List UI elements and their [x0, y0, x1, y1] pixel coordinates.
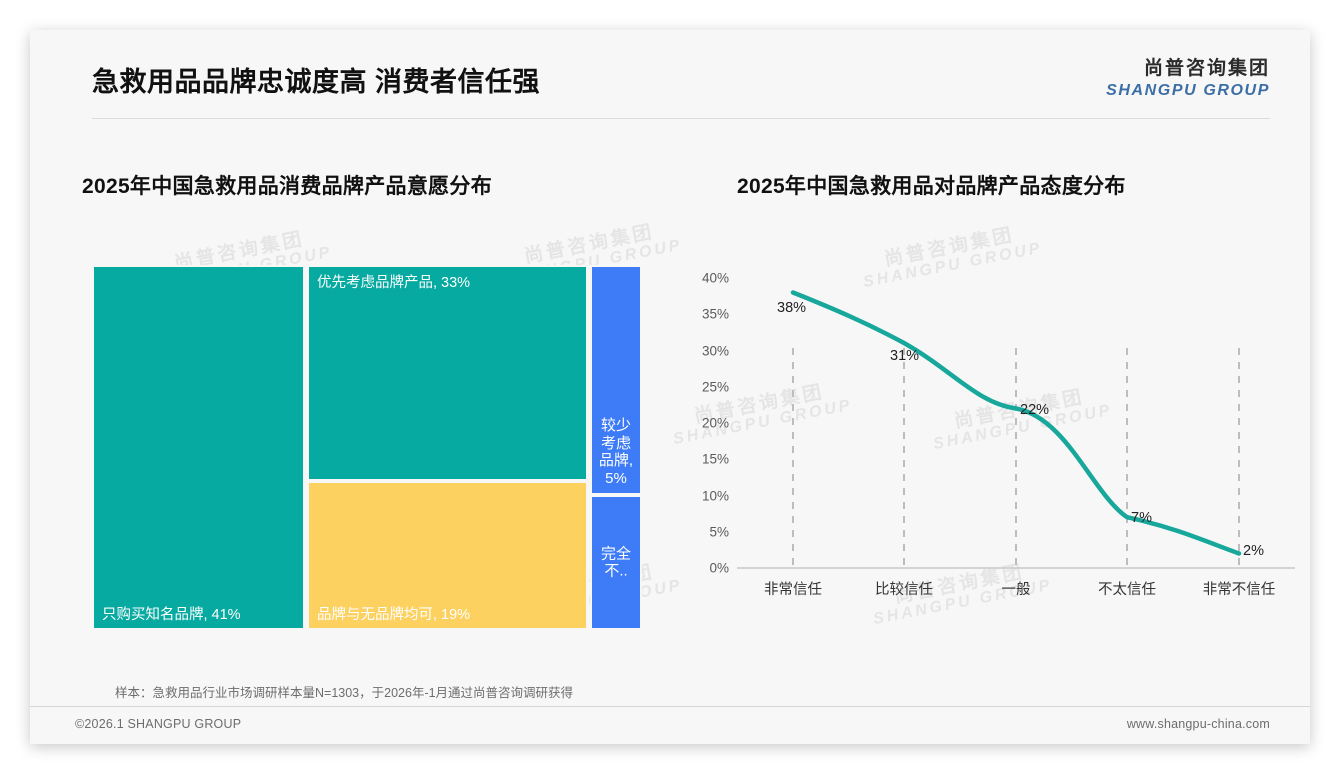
treemap-cell-prefer-brand[interactable]: 优先考虑品牌产品, 33% — [307, 265, 588, 481]
x-axis: 非常信任 比较信任 一般 不太信任 非常不信任 — [737, 578, 1295, 608]
x-tick-label: 非常信任 — [764, 578, 822, 599]
watermark-cn: 尚普咨询集团 — [858, 221, 1041, 275]
treemap-cell-seldom-consider-brand[interactable]: 较少考虑品牌, 5% — [590, 265, 642, 495]
treemap-cell-label: 完全不.. — [592, 545, 640, 580]
brand-logo: 尚普咨询集团 SHANGPU GROUP — [1106, 58, 1270, 100]
line-chart-svg — [737, 278, 1295, 578]
treemap-cell-buy-known-brand[interactable]: 只购买知名品牌, 41% — [92, 265, 305, 630]
data-label: 22% — [1020, 402, 1049, 418]
website-link[interactable]: www.shangpu-china.com — [1127, 717, 1270, 731]
right-chart-title: 2025年中国急救用品对品牌产品态度分布 — [737, 170, 1126, 200]
treemap-cell-label: 较少考虑品牌, 5% — [592, 417, 640, 487]
y-tick: 15% — [683, 452, 729, 467]
data-label: 31% — [890, 348, 919, 364]
sample-footnote: 样本：急救用品行业市场调研样本量N=1303，于2026年-1月通过尚普咨询调研… — [115, 682, 573, 701]
slide-header: 急救用品品牌忠诚度高 消费者信任强 尚普咨询集团 SHANGPU GROUP — [30, 30, 1310, 122]
brand-willingness-treemap: 只购买知名品牌, 41% 优先考虑品牌产品, 33% 品牌与无品牌均可, 19%… — [92, 265, 642, 630]
y-axis: 0% 5% 10% 15% 20% 25% 30% 35% 40% — [675, 278, 729, 568]
y-tick: 40% — [683, 271, 729, 286]
y-tick: 25% — [683, 379, 729, 394]
plot-area — [737, 278, 1295, 568]
treemap-cell-brand-or-nobrand[interactable]: 品牌与无品牌均可, 19% — [307, 481, 588, 630]
treemap-cell-label: 只购买知名品牌, 41% — [102, 603, 241, 624]
data-label: 7% — [1131, 510, 1152, 526]
slide-canvas: 尚普咨询集团 SHANGPU GROUP 尚普咨询集团 SHANGPU GROU… — [30, 30, 1310, 744]
data-label: 2% — [1243, 543, 1264, 559]
x-tick-label: 不太信任 — [1098, 578, 1156, 599]
treemap-cell-label: 品牌与无品牌均可, 19% — [317, 603, 470, 624]
header-divider — [92, 118, 1270, 119]
y-tick: 0% — [683, 561, 729, 576]
page-title: 急救用品品牌忠诚度高 消费者信任强 — [92, 60, 540, 99]
brand-attitude-line-chart: 0% 5% 10% 15% 20% 25% 30% 35% 40% — [675, 278, 1295, 628]
x-tick-label: 比较信任 — [875, 578, 933, 599]
y-tick: 35% — [683, 307, 729, 322]
treemap-cell-not-at-all[interactable]: 完全不.. — [590, 495, 642, 630]
logo-en-text: SHANGPU GROUP — [1106, 81, 1270, 100]
logo-cn-text: 尚普咨询集团 — [1106, 58, 1270, 81]
y-tick: 5% — [683, 524, 729, 539]
data-label: 38% — [777, 300, 806, 316]
left-chart-title: 2025年中国急救用品消费品牌产品意愿分布 — [82, 170, 492, 200]
y-tick: 20% — [683, 416, 729, 431]
y-tick: 10% — [683, 488, 729, 503]
y-tick: 30% — [683, 343, 729, 358]
x-tick-label: 一般 — [1002, 578, 1031, 599]
slide-footer: ©2026.1 SHANGPU GROUP www.shangpu-china.… — [30, 707, 1310, 744]
x-tick-label: 非常不信任 — [1203, 578, 1276, 599]
treemap-cell-label: 优先考虑品牌产品, 33% — [317, 271, 470, 292]
copyright-text: ©2026.1 SHANGPU GROUP — [75, 717, 241, 731]
